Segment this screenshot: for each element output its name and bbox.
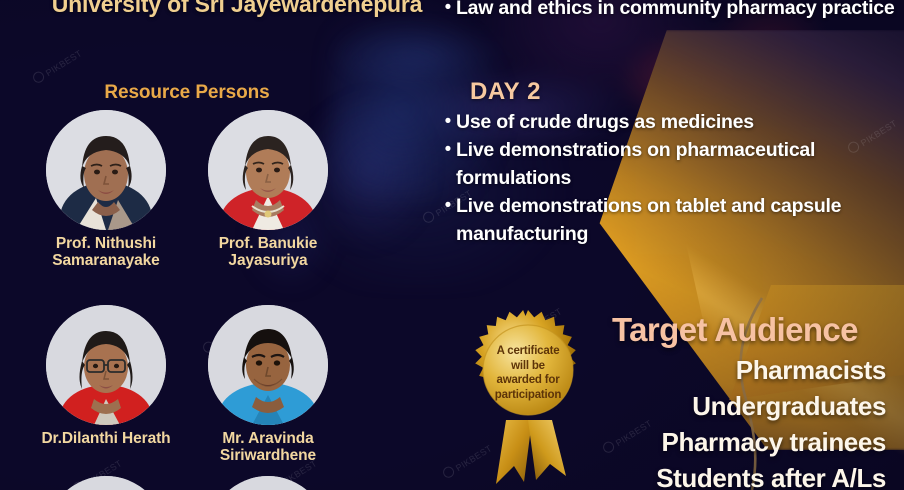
resource-person-card: Prof. Banukie Jayasuriya [184, 110, 352, 269]
resource-person-card: Prof. Nithushi Samaranayake [22, 110, 190, 269]
bullet-item: • Use of crude drugs as medicines [440, 108, 900, 136]
audience-item: Pharmacy trainees [486, 424, 886, 460]
portrait-man-blue-shirt-icon [208, 305, 328, 425]
avatar [208, 476, 328, 490]
avatar [46, 476, 166, 490]
resource-person-name: Prof. Banukie Jayasuriya [184, 235, 352, 269]
target-audience-list: Pharmacists Undergraduates Pharmacy trai… [486, 352, 886, 490]
resource-persons-heading: Resource Persons [22, 82, 352, 104]
resource-person-card-partial [184, 476, 352, 490]
portrait-partial-bottom-right-icon [208, 476, 328, 490]
day2-bullets: • Use of crude drugs as medicines • Live… [440, 108, 900, 248]
bullet-dot-icon: • [440, 136, 456, 164]
bullet-text: Use of crude drugs as medicines [456, 108, 754, 136]
portrait-woman-glasses-red-top-icon [46, 305, 166, 425]
portrait-woman-short-hair-sari-icon [46, 110, 166, 230]
portrait-woman-red-blazer-icon [208, 110, 328, 230]
bullet-dot-icon: • [440, 108, 456, 136]
bullet-text: Live demonstrations on pharmaceutical fo… [456, 136, 900, 192]
avatar [208, 305, 328, 425]
audience-item: Pharmacists [486, 352, 886, 388]
bullet-dot-icon: • [440, 192, 456, 220]
bullet-item: • Law and ethics in community pharmacy p… [440, 0, 900, 22]
bullet-item: • Live demonstrations on tablet and caps… [440, 192, 900, 248]
avatar [46, 110, 166, 230]
resource-person-name: Dr.Dilanthi Herath [22, 430, 190, 447]
resource-person-card: Dr.Dilanthi Herath [22, 305, 190, 447]
resource-person-name: Mr. Aravinda Siriwardhene [184, 430, 352, 464]
day-2-label: DAY 2 [470, 78, 541, 106]
resource-person-name: Prof. Nithushi Samaranayake [22, 235, 190, 269]
avatar [46, 305, 166, 425]
avatar [208, 110, 328, 230]
bullet-text: Law and ethics in community pharmacy pra… [456, 0, 894, 22]
bullet-item: • Live demonstrations on pharmaceutical … [440, 136, 900, 192]
resource-person-card-partial [22, 476, 190, 490]
poster-canvas: PIKBEST PIKBEST PIKBEST PIKBEST PIKBEST … [0, 0, 904, 490]
audience-item: Undergraduates [486, 388, 886, 424]
day1-remaining-bullets: • Law and ethics in community pharmacy p… [440, 0, 900, 22]
audience-item: Students after A/Ls [486, 460, 886, 490]
resource-person-card: Mr. Aravinda Siriwardhene [184, 305, 352, 464]
portrait-partial-bottom-left-icon [46, 476, 166, 490]
bullet-text: Live demonstrations on tablet and capsul… [456, 192, 900, 248]
bullet-dot-icon: • [440, 0, 456, 22]
university-title: University of Sri Jayewardenepura [22, 0, 452, 18]
target-audience-title: Target Audience [575, 311, 895, 349]
